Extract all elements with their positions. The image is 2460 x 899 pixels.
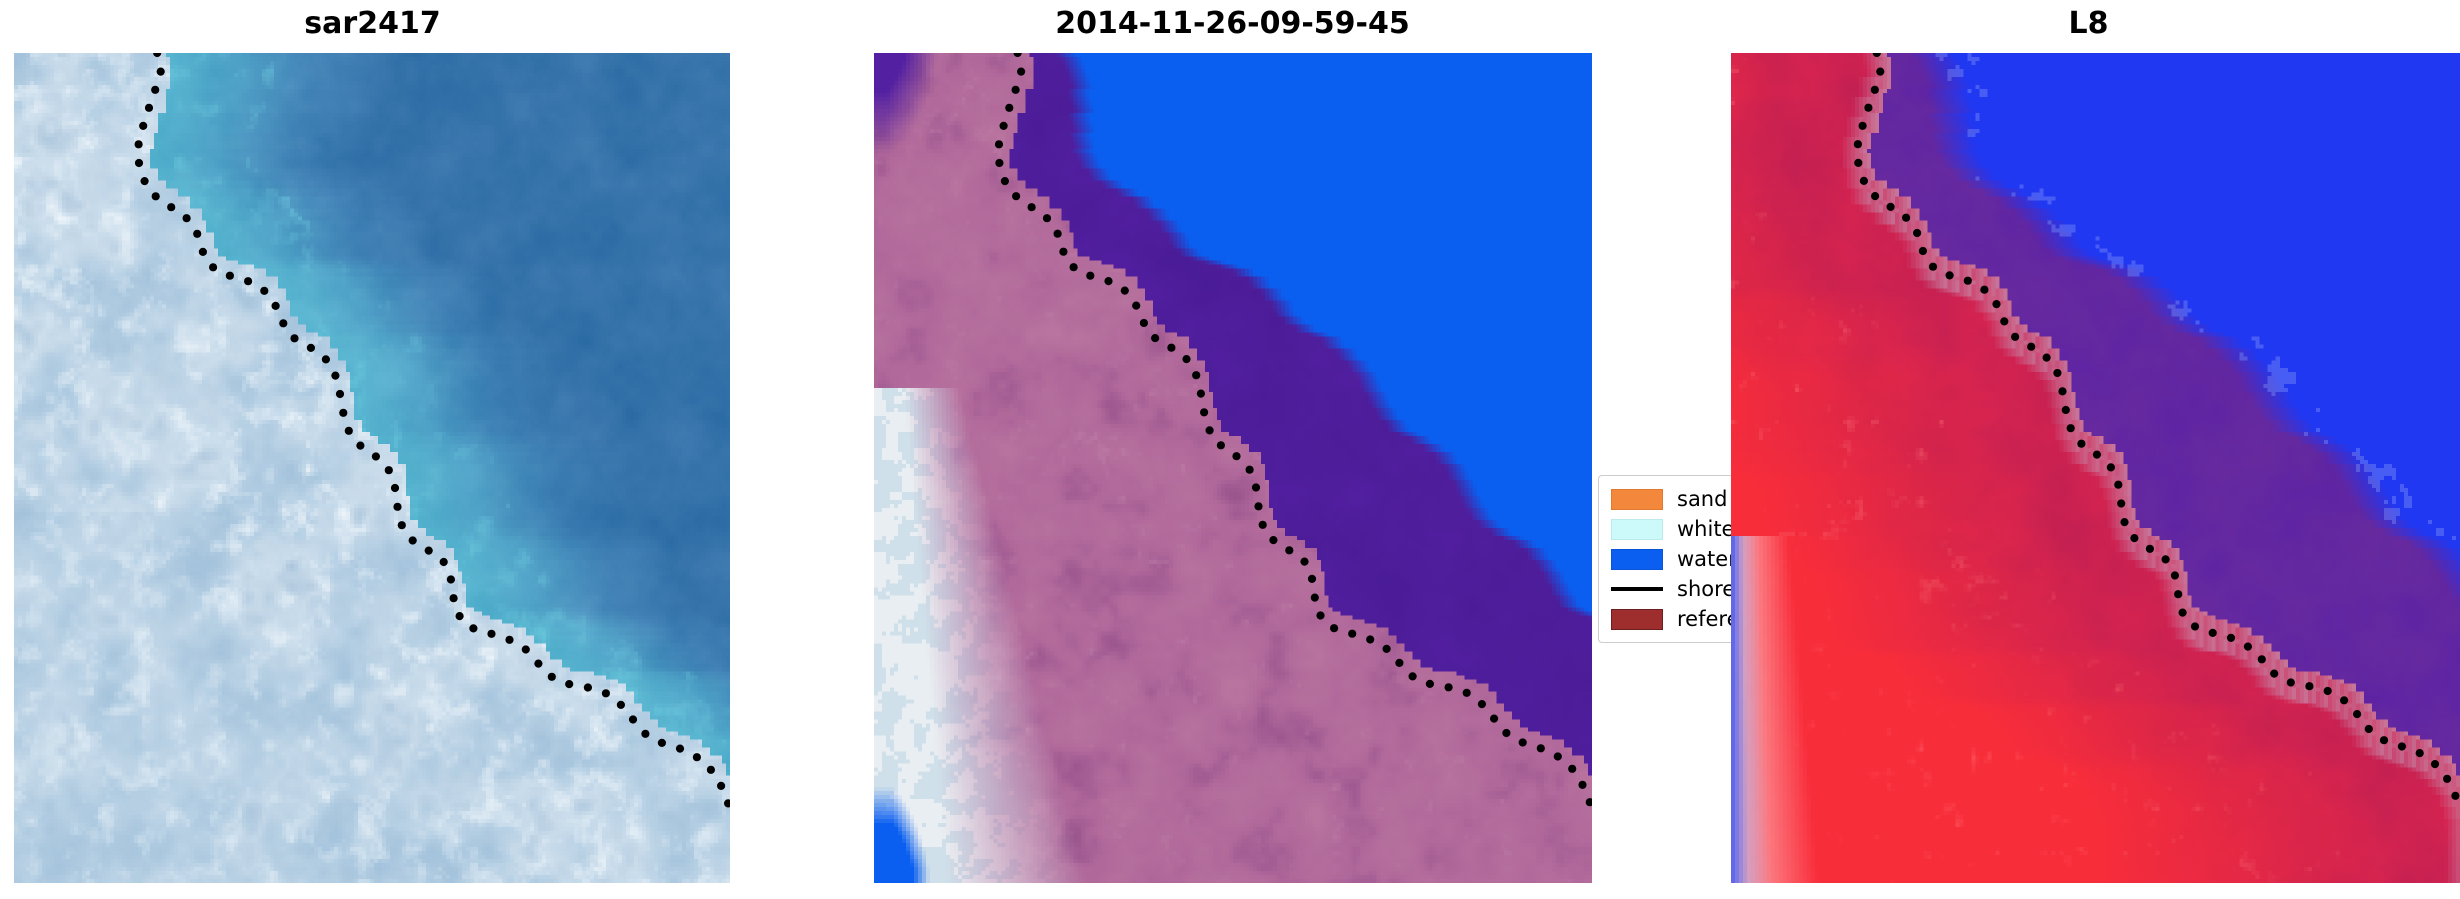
shoreline-line-icon (1611, 579, 1663, 600)
panel-3-image (1731, 53, 2460, 883)
water-swatch-icon (1611, 549, 1663, 570)
sand-swatch-icon (1611, 489, 1663, 510)
figure-canvas: sar2417 2014-11-26-09-59-45 sand whitewa… (0, 0, 2460, 899)
panel-1-title: sar2417 (0, 4, 745, 44)
panel-classified: 2014-11-26-09-59-45 (860, 0, 1605, 899)
whitewater-swatch-icon (1611, 519, 1663, 540)
panel-sar: sar2417 (0, 0, 745, 899)
reference-swatch-icon (1611, 609, 1663, 630)
panel-1-image (14, 53, 730, 883)
panel-2-image (874, 53, 1592, 883)
panel-2-title: 2014-11-26-09-59-45 (860, 4, 1605, 44)
panel-l8: L8 (1717, 0, 2460, 899)
panel-3-title: L8 (1717, 4, 2460, 44)
